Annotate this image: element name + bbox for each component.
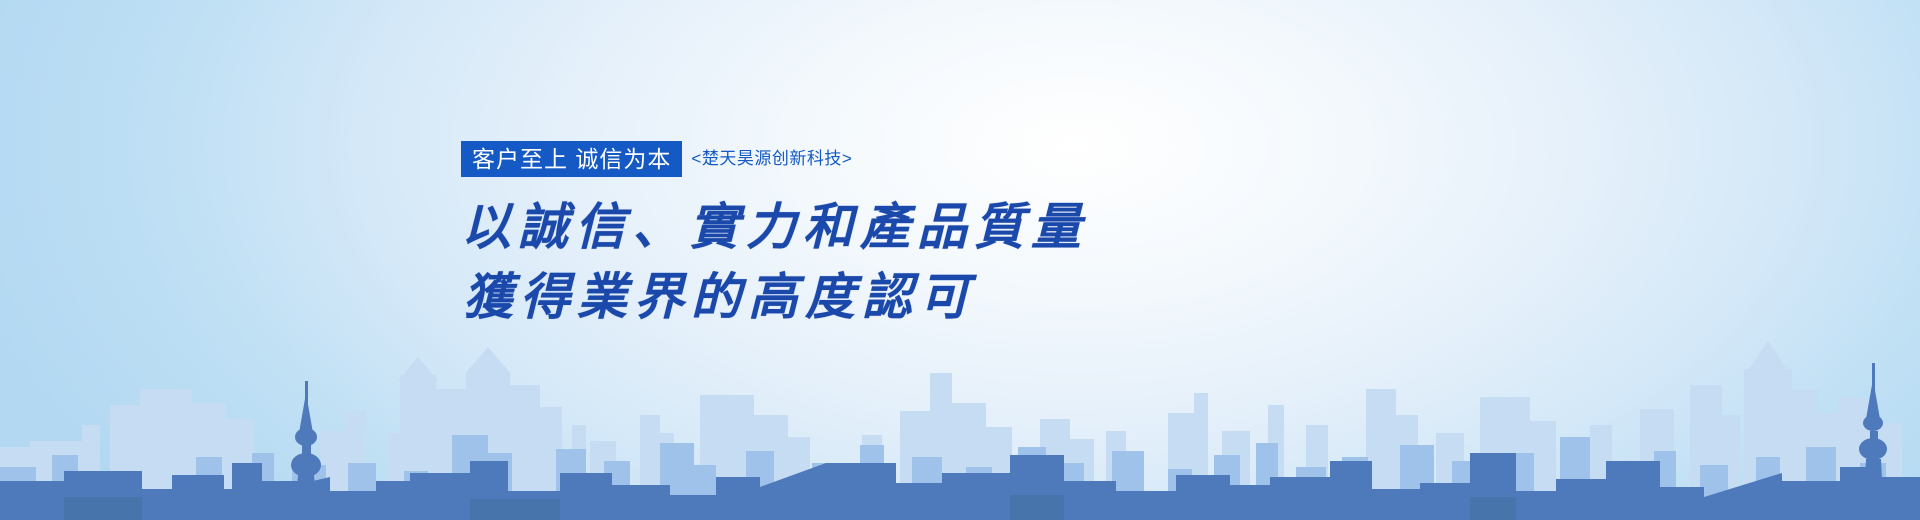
company-name-label: <楚天昊源创新科技> [691, 141, 852, 177]
headline-line-1: 以誠信、實力和產品質量 [461, 192, 1361, 262]
headline: 以誠信、實力和產品質量 獲得業界的高度認可 [461, 192, 1361, 332]
promo-banner: 客户至上 诚信为本 <楚天昊源创新科技> 以誠信、實力和產品質量 獲得業界的高度… [0, 0, 1920, 520]
headline-line-2: 獲得業界的高度認可 [461, 262, 1361, 332]
tagline-badge: 客户至上 诚信为本 [461, 141, 682, 177]
banner-text-block: 客户至上 诚信为本 <楚天昊源创新科技> 以誠信、實力和產品質量 獲得業界的高度… [461, 140, 1361, 332]
tagline-row: 客户至上 诚信为本 <楚天昊源创新科技> [461, 140, 1361, 178]
